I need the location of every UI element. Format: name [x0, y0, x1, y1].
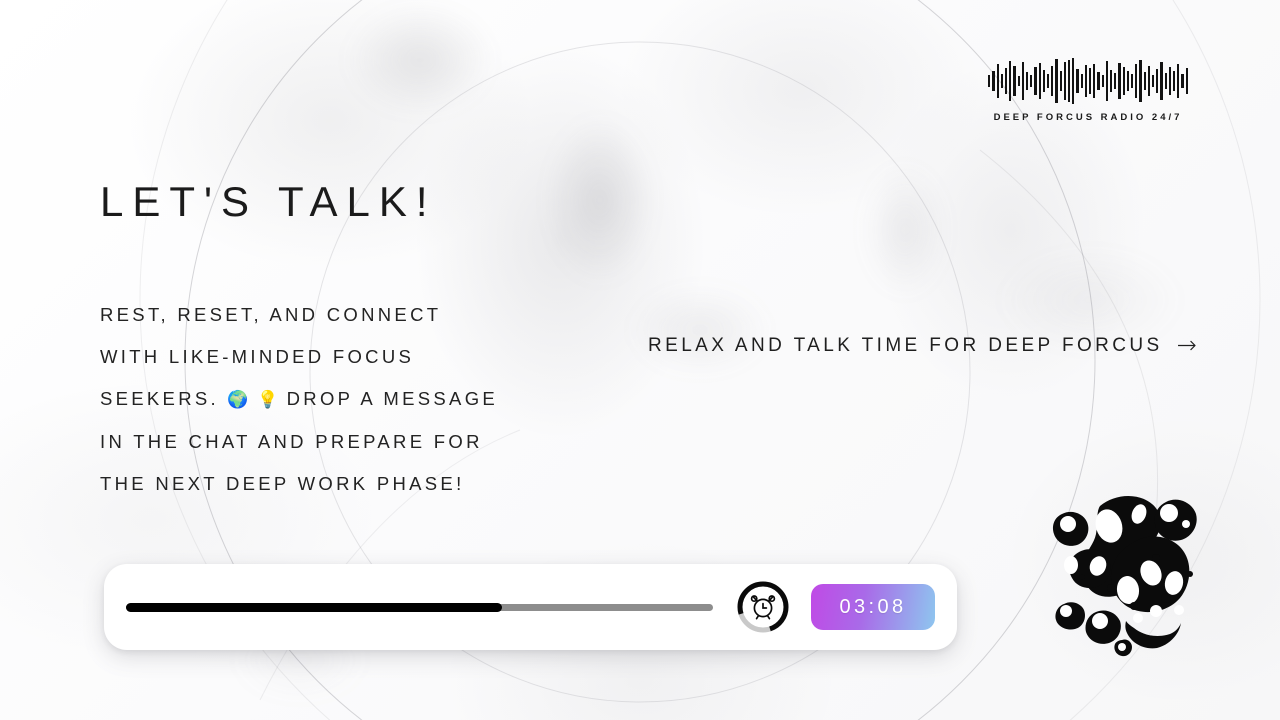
waveform-bar	[997, 64, 999, 98]
stream-overlay-screen: DEEP FORCUS RADIO 24/7 LET'S TALK! REST,…	[0, 0, 1280, 720]
waveform-bar	[1060, 71, 1062, 91]
waveform-bar	[1001, 74, 1003, 88]
body-copy: REST, RESET, AND CONNECT WITH LIKE-MINDE…	[100, 294, 570, 505]
alarm-clock-icon	[752, 596, 775, 619]
waveform-bar	[1034, 67, 1036, 95]
body-line-3-pre: SEEKERS.	[100, 388, 219, 409]
waveform-bar	[1068, 60, 1070, 102]
waveform-bar	[1131, 74, 1133, 88]
waveform-bar	[1181, 74, 1183, 88]
page-title: LET'S TALK!	[100, 178, 437, 226]
waveform-bar	[1047, 74, 1049, 88]
ink-blob-graphic	[1038, 480, 1224, 660]
waveform-bar	[1093, 64, 1095, 98]
body-line-3-post: DROP A MESSAGE	[287, 388, 498, 409]
audio-waveform-icon	[988, 58, 1188, 104]
waveform-bar	[1152, 75, 1154, 87]
waveform-bar	[1169, 67, 1171, 95]
body-line-4: IN THE CHAT AND PREPARE FOR	[100, 421, 570, 463]
waveform-bar	[1072, 58, 1074, 104]
waveform-bar	[1165, 73, 1167, 89]
waveform-bar	[1114, 73, 1116, 89]
waveform-bar	[1156, 69, 1158, 93]
progress-fill	[126, 603, 502, 612]
body-line-5: THE NEXT DEEP WORK PHASE!	[100, 463, 570, 505]
tagline: RELAX AND TALK TIME FOR DEEP FORCUS →	[648, 334, 1197, 358]
progress-slider[interactable]	[126, 603, 713, 612]
waveform-bar	[1009, 61, 1011, 101]
waveform-bar	[1127, 71, 1129, 91]
waveform-bar	[1135, 64, 1137, 98]
player-bar: 03:08	[104, 564, 957, 650]
waveform-bar	[1055, 59, 1057, 103]
brand-caption: DEEP FORCUS RADIO 24/7	[988, 112, 1188, 123]
waveform-bar	[1097, 72, 1099, 90]
waveform-bar	[1064, 62, 1066, 100]
waveform-bar	[1118, 63, 1120, 99]
waveform-bar	[1148, 66, 1150, 96]
waveform-bar	[1173, 71, 1175, 91]
globe-icon: 🌍	[227, 390, 248, 410]
timer-ring[interactable]	[735, 579, 791, 635]
waveform-bar	[1081, 74, 1083, 88]
waveform-bar	[1186, 68, 1188, 94]
waveform-bar	[1005, 68, 1007, 94]
waveform-bar	[1102, 75, 1104, 87]
arrow-right-icon: →	[1177, 333, 1197, 357]
waveform-bar	[1076, 69, 1078, 93]
waveform-bar	[1106, 61, 1108, 101]
timer-badge[interactable]: 03:08	[811, 584, 935, 630]
waveform-bar	[1144, 72, 1146, 90]
waveform-bar	[1139, 60, 1141, 102]
brand-logo: DEEP FORCUS RADIO 24/7	[988, 58, 1188, 123]
waveform-bar	[1177, 64, 1179, 98]
waveform-bar	[988, 75, 990, 87]
lightbulb-icon: 💡	[257, 390, 278, 410]
waveform-bar	[1051, 66, 1053, 96]
tagline-text: RELAX AND TALK TIME FOR DEEP FORCUS	[648, 335, 1163, 357]
waveform-bar	[1160, 62, 1162, 100]
waveform-bar	[1026, 72, 1028, 90]
waveform-bar	[1013, 66, 1015, 96]
waveform-bar	[1123, 67, 1125, 95]
body-line-3: SEEKERS. 🌍 💡 DROP A MESSAGE	[100, 378, 570, 421]
body-line-1: REST, RESET, AND CONNECT	[100, 294, 570, 336]
timer-value: 03:08	[839, 596, 906, 619]
waveform-bar	[1022, 62, 1024, 100]
waveform-bar	[1030, 75, 1032, 87]
waveform-bar	[1039, 63, 1041, 99]
waveform-bar	[1085, 65, 1087, 97]
body-line-2: WITH LIKE-MINDED FOCUS	[100, 336, 570, 378]
waveform-bar	[1043, 70, 1045, 92]
waveform-bar	[1089, 68, 1091, 94]
waveform-bar	[992, 71, 994, 91]
waveform-bar	[1018, 76, 1020, 86]
waveform-bar	[1110, 70, 1112, 92]
